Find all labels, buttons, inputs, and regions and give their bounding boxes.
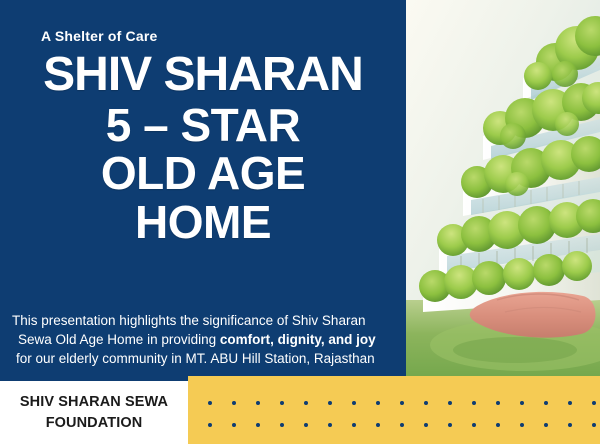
vertical-garden-building-photo: [405, 0, 600, 376]
decorative-dot: [280, 423, 284, 427]
subtitle-line-1: This presentation highlights the signifi…: [12, 311, 400, 330]
presentation-title-slide: A Shelter of Care SHIV SHARAN 5 – STAR O…: [0, 0, 600, 444]
subtitle-emphasis: comfort, dignity, and joy: [220, 332, 376, 347]
decorative-dot: [592, 401, 596, 405]
decorative-dot: [520, 423, 524, 427]
decorative-dot: [208, 423, 212, 427]
decorative-dot: [352, 423, 356, 427]
title-line-4: HOME: [0, 200, 406, 246]
dot-row-bottom: [188, 423, 600, 427]
foundation-name-line-1: SHIV SHARAN SEWA: [20, 392, 168, 413]
decorative-dot: [520, 401, 524, 405]
decorative-dot: [496, 423, 500, 427]
decorative-dot: [304, 401, 308, 405]
page-title: SHIV SHARAN 5 – STAR OLD AGE HOME: [0, 51, 406, 245]
decorative-dot: [328, 423, 332, 427]
decorative-dot: [328, 401, 332, 405]
subtitle-paragraph: This presentation highlights the signifi…: [12, 311, 400, 368]
title-line-1: SHIV SHARAN: [0, 51, 406, 99]
title-line-3: OLD AGE: [0, 151, 406, 197]
decorative-dot: [280, 401, 284, 405]
decorative-dot: [472, 401, 476, 405]
decorative-dot: [256, 401, 260, 405]
decorative-dot: [232, 401, 236, 405]
decorative-dot: [472, 423, 476, 427]
subtitle-line-2-plain: Sewa Old Age Home in providing: [18, 332, 220, 347]
decorative-dot: [376, 401, 380, 405]
decorative-dot: [592, 423, 596, 427]
decorative-dot: [208, 401, 212, 405]
foundation-name: SHIV SHARAN SEWA FOUNDATION: [20, 392, 168, 434]
decorative-dot: [448, 423, 452, 427]
decorative-dot: [400, 423, 404, 427]
title-panel: A Shelter of Care SHIV SHARAN 5 – STAR O…: [0, 0, 406, 378]
foundation-brand-band: SHIV SHARAN SEWA FOUNDATION: [0, 381, 188, 444]
decorative-dot: [256, 423, 260, 427]
title-line-2: 5 – STAR: [0, 103, 406, 149]
foundation-name-line-2: FOUNDATION: [20, 413, 168, 434]
subtitle-line-3: for our elderly community in MT. ABU Hil…: [12, 349, 400, 368]
decorative-dot: [232, 423, 236, 427]
decorative-dot: [352, 401, 356, 405]
decorative-dot: [568, 401, 572, 405]
decorative-dot: [448, 401, 452, 405]
decorative-dot: [544, 423, 548, 427]
subtitle-line-2: Sewa Old Age Home in providing comfort, …: [12, 330, 400, 349]
decorative-dot: [544, 401, 548, 405]
decorative-dot: [496, 401, 500, 405]
dot-row-top: [188, 401, 600, 405]
decorative-dot: [376, 423, 380, 427]
decorative-dot: [424, 423, 428, 427]
decorative-dot: [304, 423, 308, 427]
decorative-dot: [400, 401, 404, 405]
decorative-dot: [424, 401, 428, 405]
decorative-dot: [568, 423, 572, 427]
eyebrow-text: A Shelter of Care: [41, 28, 157, 44]
gold-dot-band: [188, 376, 600, 444]
